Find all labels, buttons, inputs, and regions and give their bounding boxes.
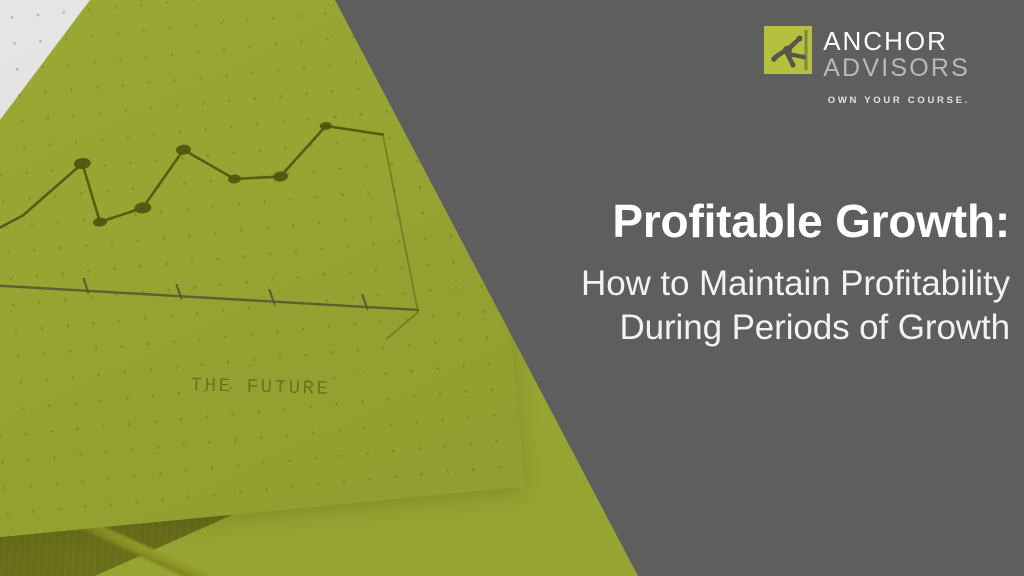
page-subtitle: How to Maintain Profitability During Per…	[450, 262, 1010, 350]
anchor-advisors-logo[interactable]: ANCHOR ADVISORS	[764, 26, 970, 81]
page-subtitle-line-1: How to Maintain Profitability	[450, 262, 1010, 306]
logo-word-anchor: ANCHOR	[823, 28, 970, 55]
logo-wordmark: ANCHOR ADVISORS	[823, 26, 970, 81]
page-title: Profitable Growth:	[450, 196, 1010, 248]
page-subtitle-line-2: During Periods of Growth	[450, 306, 1010, 350]
logo-tagline: OWN YOUR COURSE.	[828, 95, 970, 106]
title-slide: THE FUTURE	[0, 0, 1024, 576]
anchor-advisors-mark-icon	[764, 26, 812, 74]
logo-word-advisors: ADVISORS	[823, 55, 970, 81]
headline-block: Profitable Growth: How to Maintain Profi…	[450, 196, 1010, 350]
